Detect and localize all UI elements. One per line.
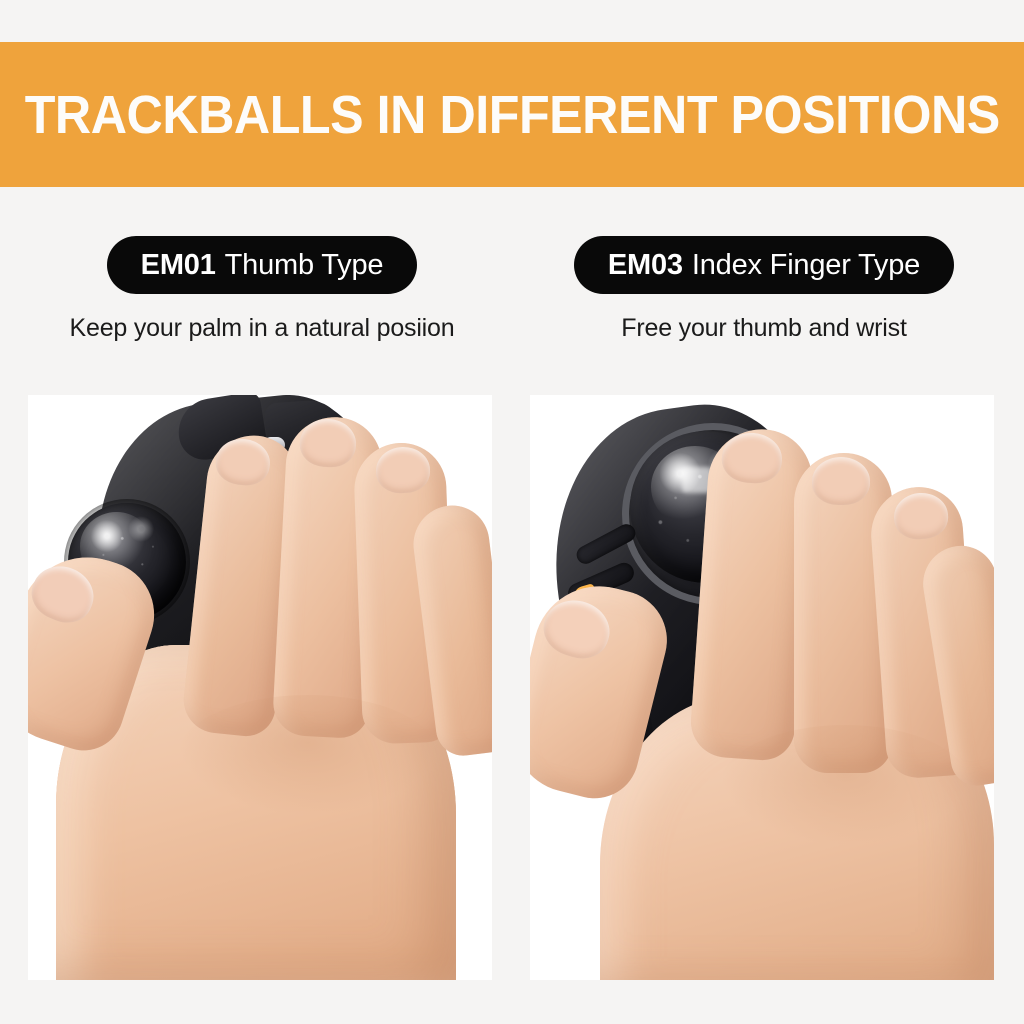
hand-knuckle-shading (720, 725, 970, 845)
pill-label-em01: Thumb Type (225, 249, 384, 282)
pill-label-em03: Index Finger Type (692, 249, 920, 282)
page-title: TRACKBALLS IN DIFFERENT POSITIONS (24, 88, 999, 142)
pill-code-em03: EM03 (608, 249, 683, 282)
fingernail-ring (375, 446, 431, 494)
hand-knuckle-shading (178, 695, 438, 815)
header-banner: TRACKBALLS IN DIFFERENT POSITIONS (0, 42, 1024, 187)
pill-wrap-em03: EM03 Index Finger Type (530, 236, 998, 294)
fingernail-middle (812, 457, 870, 505)
comparison-columns: EM01 Thumb Type Keep your palm in a natu… (0, 187, 1024, 1024)
pill-wrap-em01: EM01 Thumb Type (28, 236, 496, 294)
photo-panel-em01: Nice for new users (28, 395, 492, 980)
subcaption-em01: Keep your palm in a natural posiion (28, 314, 496, 343)
photo-thumb-trackball (28, 395, 492, 980)
infographic-page: TRACKBALLS IN DIFFERENT POSITIONS EM01 T… (0, 0, 1024, 1024)
product-pill-em03[interactable]: EM03 Index Finger Type (574, 236, 954, 294)
pill-code-em01: EM01 (141, 249, 216, 282)
product-pill-em01[interactable]: EM01 Thumb Type (107, 236, 418, 294)
subcaption-em03: Free your thumb and wrist (530, 314, 998, 343)
photo-index-finger-trackball (530, 395, 994, 980)
photo-panel-em03: Reduce muscle stress (530, 395, 994, 980)
column-em01: EM01 Thumb Type Keep your palm in a natu… (28, 187, 496, 1024)
column-em03: EM03 Index Finger Type Free your thumb a… (530, 187, 998, 1024)
